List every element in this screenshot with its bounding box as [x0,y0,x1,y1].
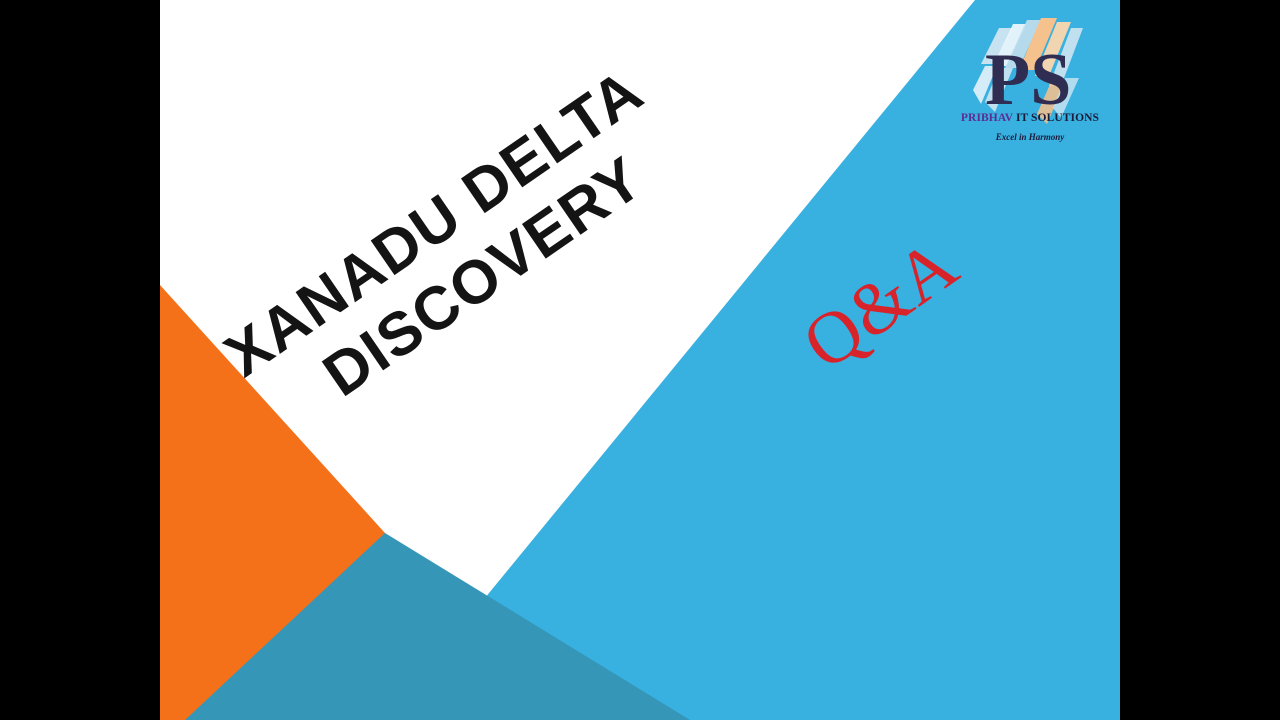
logo-mark-icon: PS [955,8,1105,128]
slide-viewport: XANADU DELTA DISCOVERY Q&A PS [0,0,1280,720]
brand-logo: PS PRIBHAV IT SOLUTIONS Excel in Harmony [955,8,1105,163]
logo-company-name: PRIBHAV IT SOLUTIONS [955,112,1105,124]
logo-monogram-text: PS [985,39,1071,121]
logo-company-name-part2: IT SOLUTIONS [1016,112,1099,124]
slide-canvas: XANADU DELTA DISCOVERY Q&A PS [160,0,1120,720]
letterbox-bar-right [1120,0,1280,720]
logo-company-name-part1: PRIBHAV [961,112,1016,124]
logo-tagline: Excel in Harmony [955,132,1105,142]
letterbox-bar-left [0,0,160,720]
